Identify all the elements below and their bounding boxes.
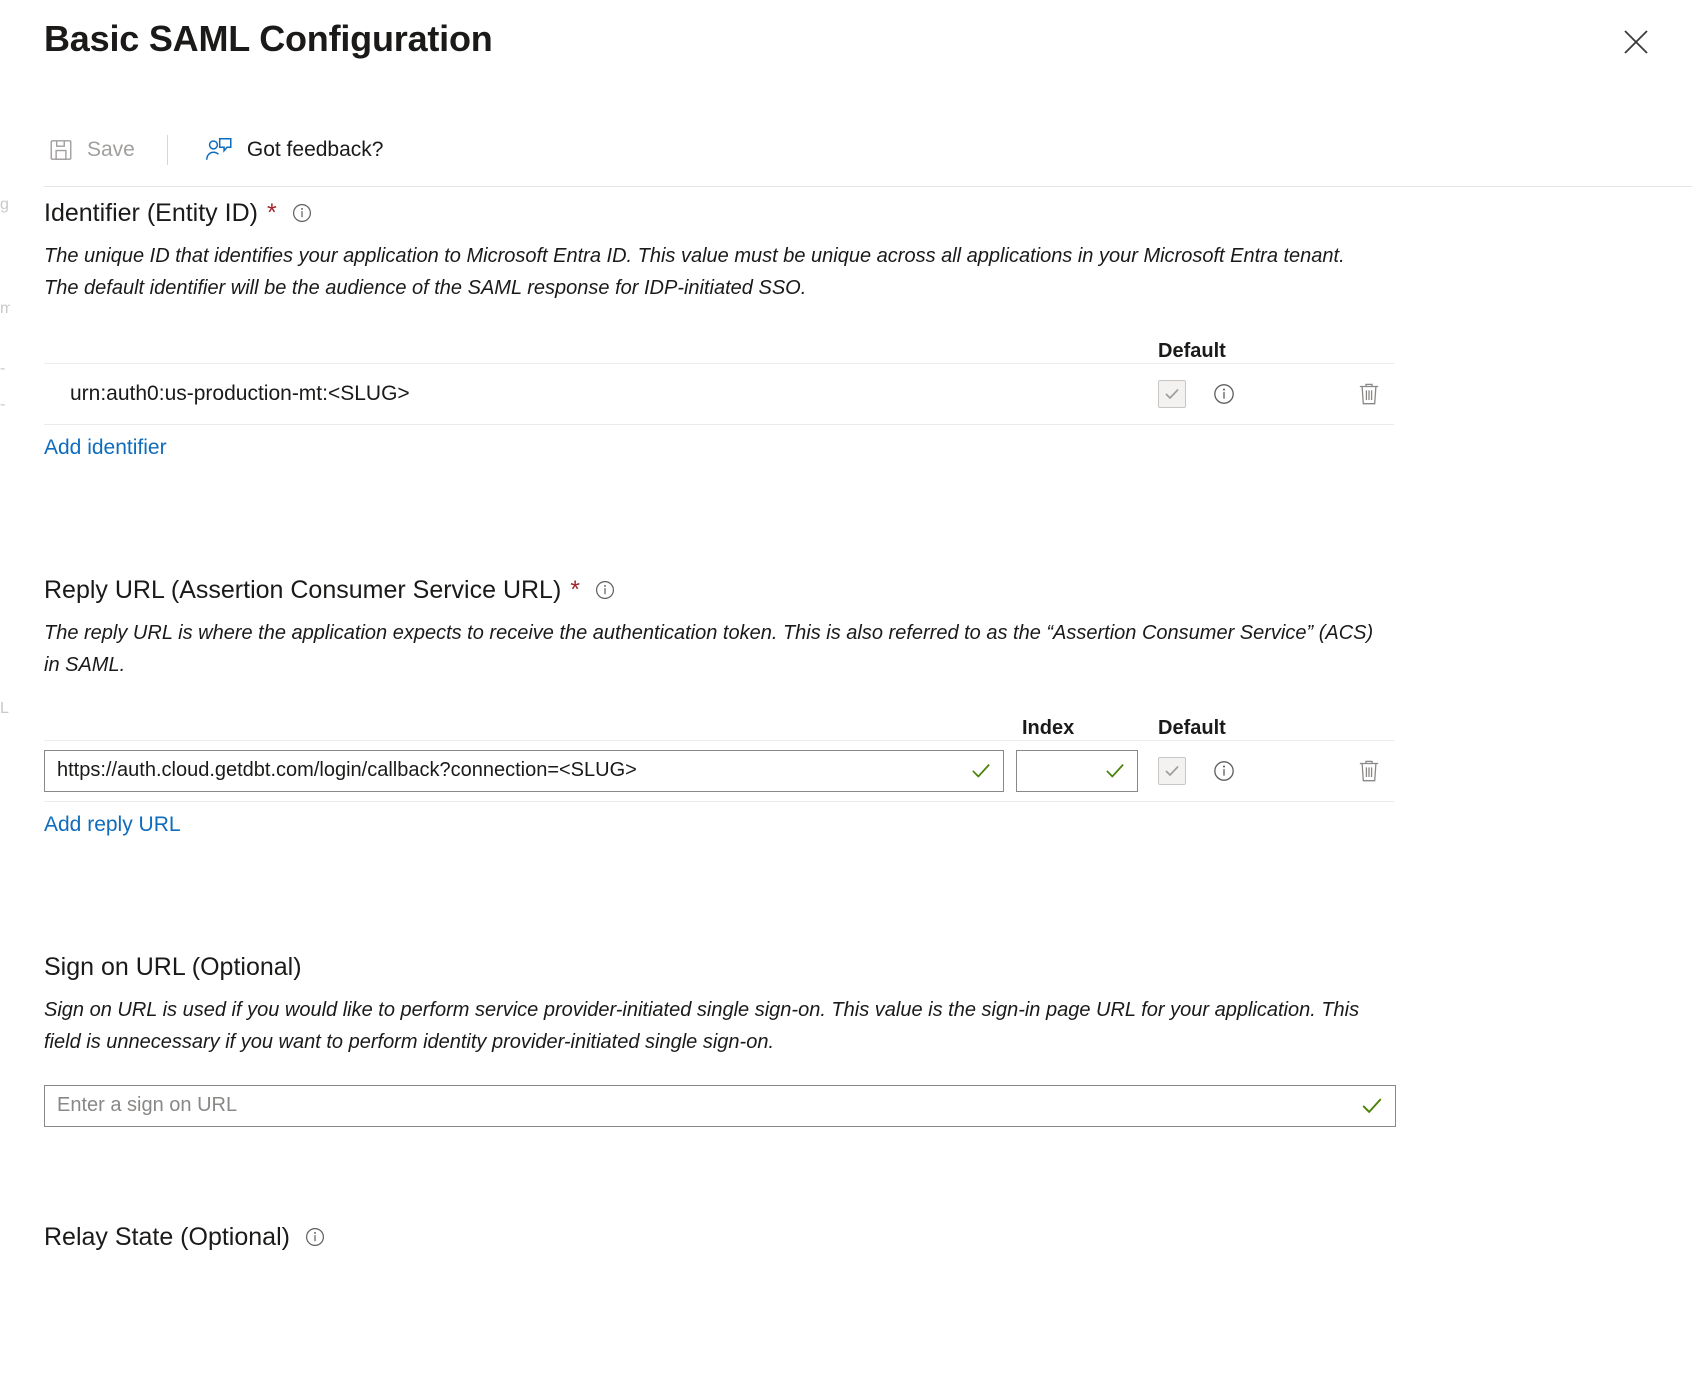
relay-state-section: Relay State (Optional): [44, 1222, 326, 1262]
required-asterisk: *: [570, 578, 580, 603]
required-asterisk: *: [267, 201, 277, 226]
reply-url-table-header: Index Default: [44, 700, 1394, 740]
identifier-title-text: Identifier (Entity ID): [44, 198, 258, 228]
relay-state-title-text: Relay State (Optional): [44, 1222, 290, 1252]
info-circle-icon[interactable]: [304, 1226, 326, 1248]
table-row: urn:auth0:us-production-mt:<SLUG>: [44, 363, 1394, 425]
save-button-label: Save: [87, 138, 135, 162]
sign-on-url-placeholder: Enter a sign on URL: [57, 1094, 1351, 1117]
background-blade-fragment: m: [0, 300, 10, 318]
reply-url-index-input[interactable]: [1016, 750, 1138, 792]
reply-url-input[interactable]: https://auth.cloud.getdbt.com/login/call…: [44, 750, 1004, 792]
trash-icon[interactable]: [1356, 380, 1382, 408]
sign-on-url-title-text: Sign on URL (Optional): [44, 952, 302, 982]
identifier-section-title: Identifier (Entity ID) *: [44, 198, 1394, 228]
reply-url-section-title: Reply URL (Assertion Consumer Service UR…: [44, 575, 1394, 605]
sign-on-url-description: Sign on URL is used if you would like to…: [44, 994, 1374, 1059]
identifier-table-header: Default: [44, 323, 1394, 363]
close-icon-glyph: [1621, 27, 1651, 57]
sign-on-url-input[interactable]: Enter a sign on URL: [44, 1085, 1396, 1127]
page-title: Basic SAML Configuration: [44, 18, 493, 60]
trash-icon[interactable]: [1356, 757, 1382, 785]
relay-state-section-title: Relay State (Optional): [44, 1222, 326, 1252]
basic-saml-configuration-blade: g m - - L Basic SAML Configuration Save: [0, 0, 1692, 1386]
reply-url-table: Index Default https://auth.cloud.getdbt.…: [44, 700, 1394, 802]
reply-url-value-cell: https://auth.cloud.getdbt.com/login/call…: [44, 750, 1016, 792]
command-bar-bottom-divider: [44, 186, 1692, 187]
table-row: https://auth.cloud.getdbt.com/login/call…: [44, 740, 1394, 802]
identifier-actions-cell: [1274, 380, 1394, 408]
command-bar-divider: [167, 135, 168, 165]
background-blade-fragment: -: [0, 360, 10, 378]
save-button[interactable]: Save: [44, 127, 145, 173]
identifier-value-cell: urn:auth0:us-production-mt:<SLUG>: [44, 382, 1152, 406]
info-circle-icon[interactable]: [1212, 382, 1236, 406]
add-reply-url-link[interactable]: Add reply URL: [44, 813, 181, 837]
background-blade-fragment: L: [0, 700, 10, 718]
blade-header: Basic SAML Configuration: [0, 0, 1692, 105]
sign-on-url-section-title: Sign on URL (Optional): [44, 952, 1396, 982]
got-feedback-label: Got feedback?: [247, 138, 384, 162]
reply-url-index-column-header: Index: [1016, 717, 1152, 740]
reply-url-title-text: Reply URL (Assertion Consumer Service UR…: [44, 575, 561, 605]
background-blade-fragment: g: [0, 196, 10, 214]
reply-url-default-column-header: Default: [1152, 717, 1274, 740]
reply-url-default-cell: [1152, 757, 1274, 785]
background-blade-fragment: -: [0, 396, 10, 414]
add-identifier-link[interactable]: Add identifier: [44, 436, 167, 460]
identifier-description: The unique ID that identifies your appli…: [44, 240, 1374, 305]
reply-url-section: Reply URL (Assertion Consumer Service UR…: [44, 575, 1394, 837]
save-floppy-icon: [48, 137, 74, 163]
identifier-section: Identifier (Entity ID) * The unique ID t…: [44, 198, 1394, 460]
default-checkbox[interactable]: [1158, 757, 1186, 785]
command-bar: Save Got feedback?: [44, 122, 1692, 178]
reply-url-index-cell: [1016, 750, 1152, 792]
feedback-person-icon: [204, 135, 234, 165]
checkmark-valid-icon: [1103, 759, 1127, 783]
identifier-default-column-header: Default: [1152, 340, 1274, 363]
reply-url-actions-cell: [1274, 757, 1394, 785]
info-circle-icon[interactable]: [1212, 759, 1236, 783]
info-circle-icon[interactable]: [594, 579, 616, 601]
checkmark-valid-icon: [1359, 1093, 1385, 1119]
close-icon[interactable]: [1616, 22, 1656, 62]
identifier-table: Default urn:auth0:us-production-mt:<SLUG…: [44, 323, 1394, 425]
identifier-value-text: urn:auth0:us-production-mt:<SLUG>: [44, 382, 410, 405]
info-circle-icon[interactable]: [291, 202, 313, 224]
identifier-default-cell: [1152, 380, 1274, 408]
sign-on-url-section: Sign on URL (Optional) Sign on URL is us…: [44, 952, 1396, 1127]
reply-url-description: The reply URL is where the application e…: [44, 617, 1374, 682]
reply-url-input-value: https://auth.cloud.getdbt.com/login/call…: [57, 759, 961, 782]
got-feedback-button[interactable]: Got feedback?: [200, 127, 394, 173]
default-checkbox[interactable]: [1158, 380, 1186, 408]
checkmark-valid-icon: [969, 759, 993, 783]
